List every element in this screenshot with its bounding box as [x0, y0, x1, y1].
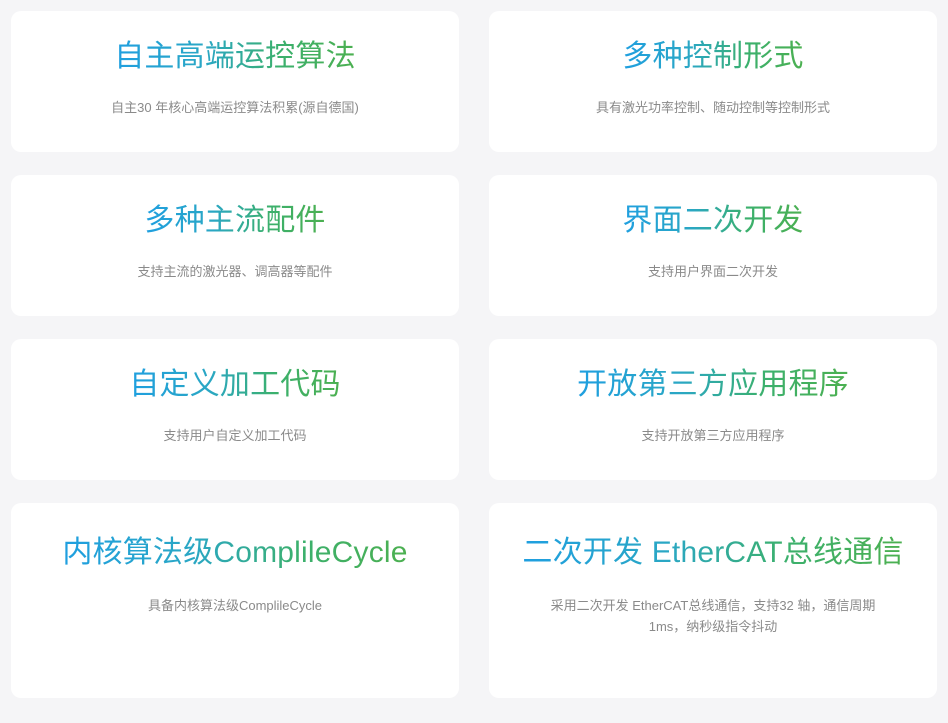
card-subtitle: 支持用户自定义加工代码 [163, 425, 306, 446]
card-title: 二次开发 EtherCAT总线通信 [522, 533, 903, 573]
card-subtitle: 采用二次开发 EtherCAT总线通信，支持32 轴，通信周期1ms，纳秒级指令… [543, 595, 883, 637]
card-title: 界面二次开发 [622, 201, 803, 241]
card-subtitle: 自主30 年核心高端运控算法积累(源自德国) [111, 97, 359, 118]
feature-card-control-modes[interactable]: 多种控制形式 具有激光功率控制、随动控制等控制形式 [489, 11, 937, 152]
feature-card-mainstream-accessories[interactable]: 多种主流配件 支持主流的激光器、调高器等配件 [11, 175, 459, 316]
card-subtitle: 支持用户界面二次开发 [648, 261, 778, 282]
card-title: 内核算法级ComplileCycle [62, 533, 407, 573]
feature-card-ui-secondary-development[interactable]: 界面二次开发 支持用户界面二次开发 [489, 175, 937, 316]
card-subtitle: 具备内核算法级ComplileCycle [148, 595, 322, 616]
feature-card-custom-machining-code[interactable]: 自定义加工代码 支持用户自定义加工代码 [11, 339, 459, 480]
feature-card-ethercat-bus-communication[interactable]: 二次开发 EtherCAT总线通信 采用二次开发 EtherCAT总线通信，支持… [489, 503, 937, 698]
card-title: 自主高端运控算法 [114, 37, 356, 77]
feature-card-grid: 自主高端运控算法 自主30 年核心高端运控算法积累(源自德国) 多种控制形式 具… [0, 0, 948, 723]
card-subtitle: 支持主流的激光器、调高器等配件 [137, 261, 332, 282]
card-subtitle: 具有激光功率控制、随动控制等控制形式 [596, 97, 830, 118]
card-title: 多种控制形式 [622, 37, 803, 77]
feature-card-third-party-applications[interactable]: 开放第三方应用程序 支持开放第三方应用程序 [489, 339, 937, 480]
card-title: 开放第三方应用程序 [577, 365, 849, 405]
card-title: 多种主流配件 [144, 201, 325, 241]
card-title: 自定义加工代码 [129, 365, 340, 405]
feature-card-autonomous-motion-algorithm[interactable]: 自主高端运控算法 自主30 年核心高端运控算法积累(源自德国) [11, 11, 459, 152]
feature-card-kernel-complilecycle[interactable]: 内核算法级ComplileCycle 具备内核算法级ComplileCycle [11, 503, 459, 698]
card-subtitle: 支持开放第三方应用程序 [641, 425, 784, 446]
